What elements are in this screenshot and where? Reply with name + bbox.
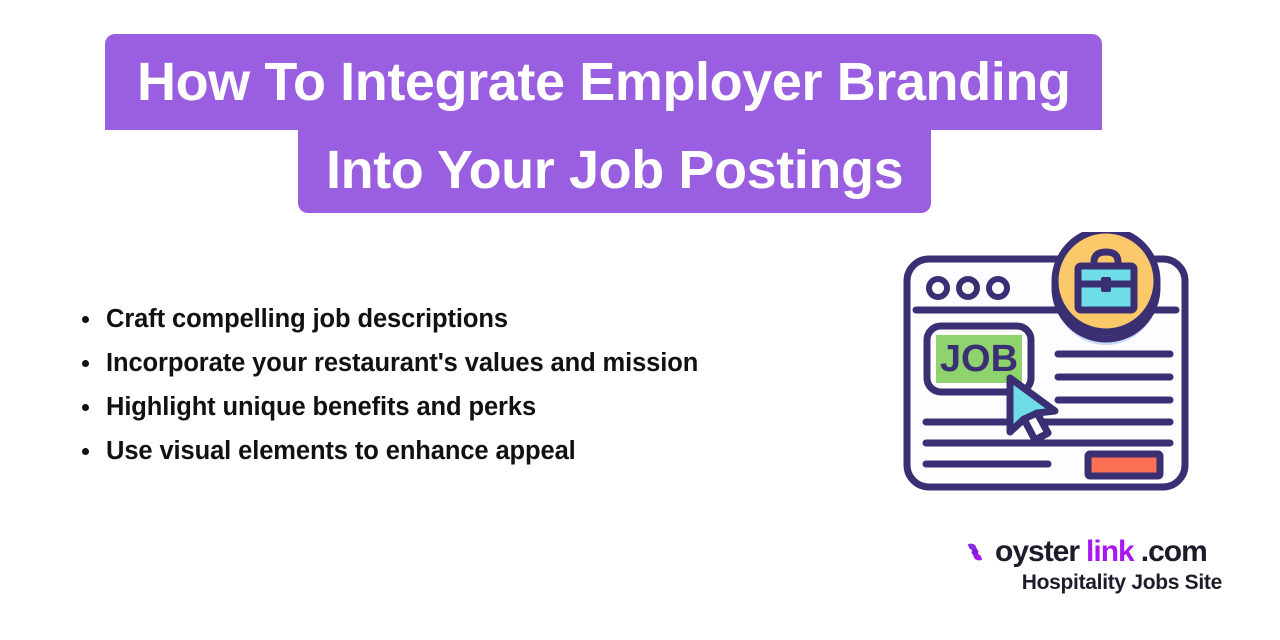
logo-word-link: link: [1086, 536, 1134, 568]
title-line-2-row: Into Your Job Postings: [0, 130, 1280, 213]
list-item: Incorporate your restaurant's values and…: [82, 341, 698, 385]
page-title: How To Integrate Employer Branding Into …: [0, 34, 1280, 213]
list-item: Craft compelling job descriptions: [82, 297, 698, 341]
list-item: Use visual elements to enhance appeal: [82, 429, 698, 473]
title-line-1: How To Integrate Employer Branding: [105, 34, 1102, 130]
list-item: Highlight unique benefits and perks: [82, 385, 698, 429]
title-line-2: Into Your Job Postings: [298, 130, 931, 213]
job-posting-illustration: JOB: [898, 232, 1194, 498]
logo-word-oyster: oyster: [995, 536, 1079, 568]
cta-button-icon: [1088, 454, 1160, 476]
oyster-pearl-icon: [962, 539, 988, 565]
logo-tagline: Hospitality Jobs Site: [962, 570, 1224, 596]
oysterlink-logo[interactable]: oysterlink.com Hospitality Jobs Site: [962, 536, 1224, 596]
title-line-1-row: How To Integrate Employer Branding: [0, 34, 1280, 130]
job-button-label: JOB: [940, 338, 1018, 380]
briefcase-badge-icon: [1055, 232, 1157, 332]
logo-wordmark-row: oysterlink.com: [962, 536, 1224, 568]
logo-word-com: .com: [1141, 536, 1207, 568]
bullet-list: Craft compelling job descriptions Incorp…: [64, 297, 698, 473]
